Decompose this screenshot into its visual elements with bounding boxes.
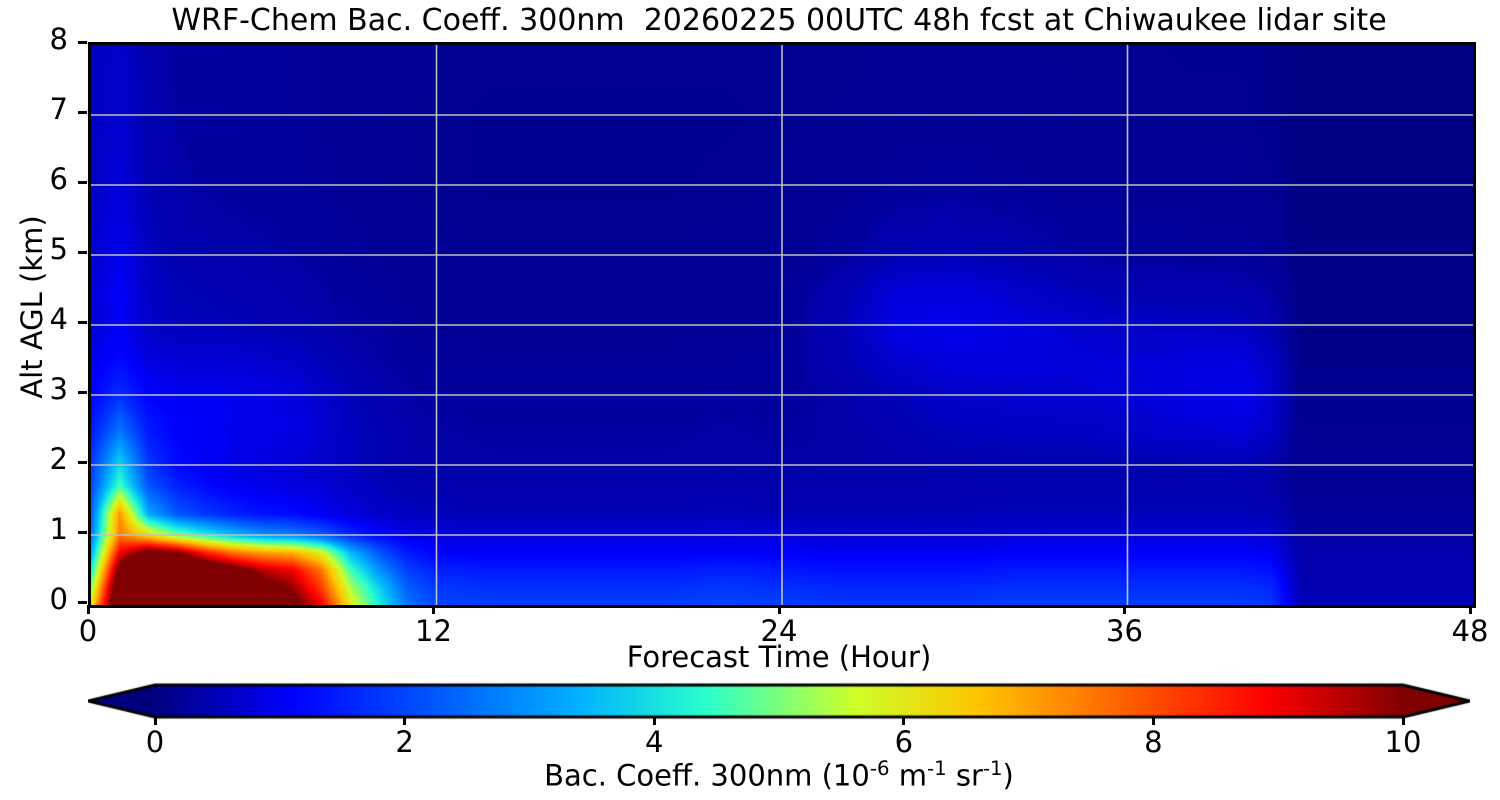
colorbar-label-text: m: [890, 759, 927, 793]
y-tick-mark: [78, 321, 87, 324]
page-title: WRF-Chem Bac. Coeff. 300nm 20260225 00UT…: [88, 4, 1470, 38]
y-tick-label: 8: [0, 22, 68, 56]
x-tick-mark: [432, 605, 435, 614]
colorbar-tick-label: 10: [1343, 725, 1463, 759]
figure-canvas: WRF-Chem Bac. Coeff. 300nm 20260225 00UT…: [0, 0, 1500, 800]
y-tick-mark: [78, 601, 87, 604]
y-tick-mark: [78, 181, 87, 184]
y-tick-mark: [78, 111, 87, 114]
colorbar-label: Bac. Coeff. 300nm (10-6 m-1 sr-1): [88, 757, 1470, 793]
colorbar-tick-mark: [902, 717, 905, 725]
x-tick-mark: [778, 605, 781, 614]
colorbar-tick-mark: [1152, 717, 1155, 725]
colorbar-label-text: sr: [947, 759, 983, 793]
colorbar-label-exponent: -6: [870, 757, 890, 780]
colorbar-label-exponent: -1: [983, 757, 1003, 780]
x-axis-label: Forecast Time (Hour): [88, 640, 1470, 674]
y-tick-mark: [78, 41, 87, 44]
colorbar-tick-mark: [403, 717, 406, 725]
colorbar-tick-label: 6: [844, 725, 964, 759]
y-tick-mark: [78, 251, 87, 254]
colorbar-tick-mark: [653, 717, 656, 725]
colorbar-gradient: [88, 681, 1470, 723]
y-tick-mark: [78, 391, 87, 394]
colorbar-label-text: Bac. Coeff. 300nm (10: [544, 759, 870, 793]
y-tick-mark: [78, 531, 87, 534]
y-tick-label: 0: [0, 582, 68, 616]
colorbar-tick-mark: [154, 717, 157, 725]
y-tick-mark: [78, 461, 87, 464]
colorbar-tick-label: 2: [345, 725, 465, 759]
colorbar-tick-label: 4: [594, 725, 714, 759]
colorbar-tick-label: 0: [95, 725, 215, 759]
colorbar-tick-mark: [1402, 717, 1405, 725]
colorbar-label-text: ): [1003, 759, 1014, 793]
plot-axes: [88, 42, 1476, 608]
x-tick-mark: [87, 605, 90, 614]
colorbar-label-exponent: -1: [927, 757, 947, 780]
heatmap-field: [91, 45, 1473, 605]
colorbar-tick-label: 8: [1093, 725, 1213, 759]
y-axis-label: Alt AGL (km): [15, 107, 49, 507]
y-tick-label: 1: [0, 512, 68, 546]
colorbar: [88, 681, 1470, 723]
x-tick-mark: [1469, 605, 1472, 614]
x-tick-mark: [1123, 605, 1126, 614]
